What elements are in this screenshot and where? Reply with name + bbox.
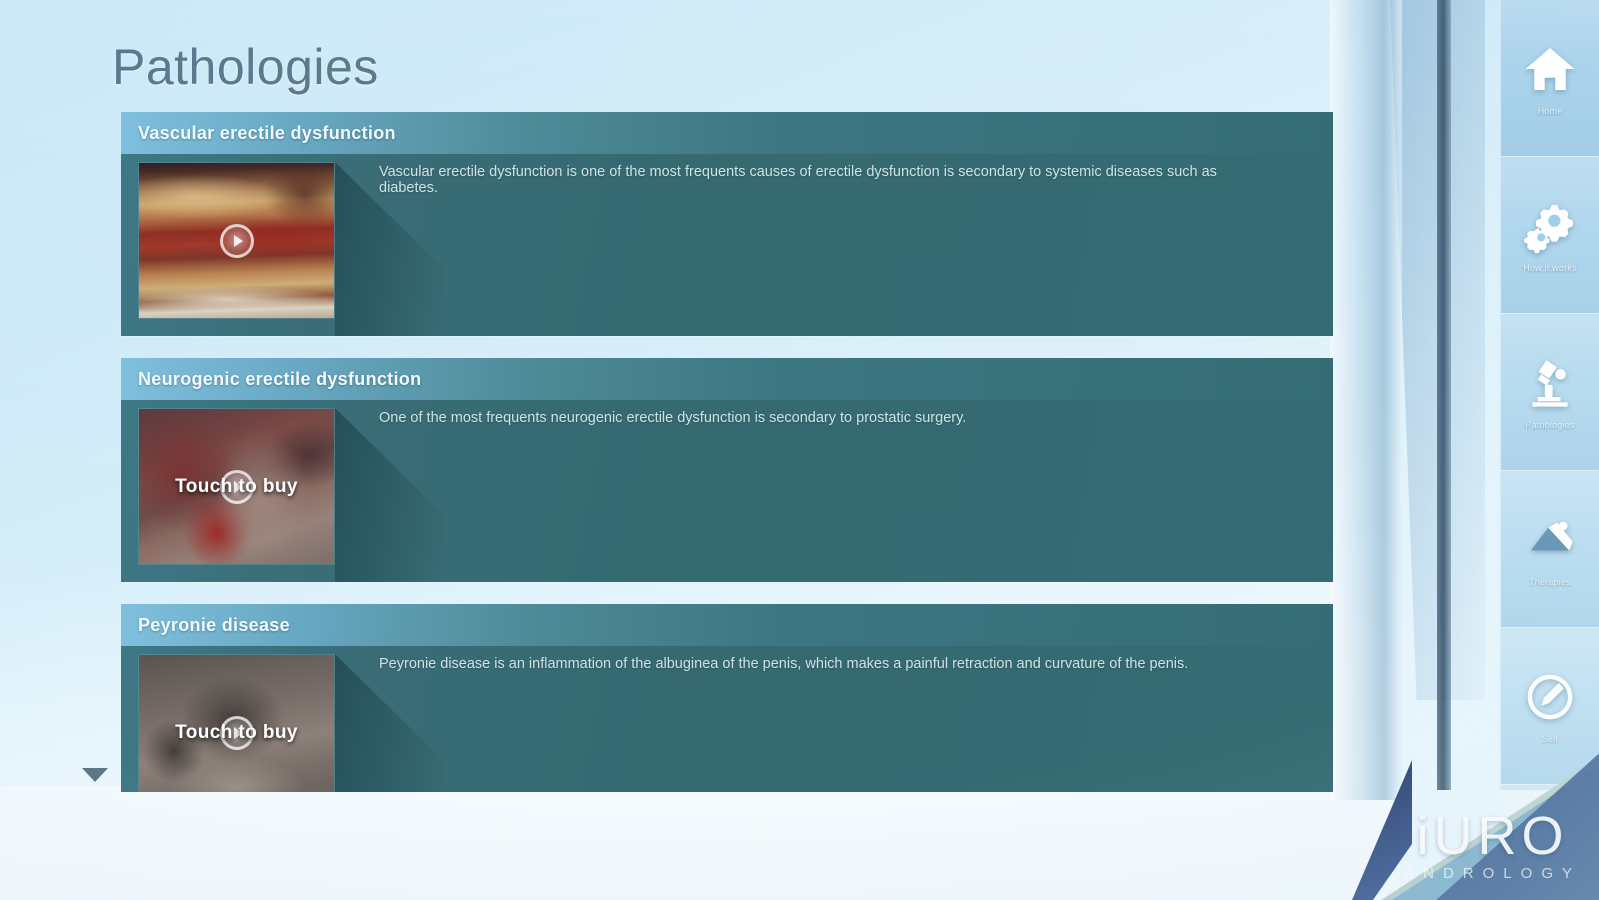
- panel-seam-edge: [1437, 0, 1451, 790]
- card-body: Vascular erectile dysfunction is one of …: [121, 154, 1333, 336]
- card-header: Peyronie disease: [121, 604, 1333, 646]
- card-description: One of the most frequents neurogenic ere…: [379, 410, 1259, 426]
- wrench-icon: [1521, 825, 1579, 883]
- microscope-icon: [1521, 354, 1579, 412]
- card-body: Touch to buy Peyronie disease is an infl…: [121, 646, 1333, 792]
- card-title: Neurogenic erectile dysfunction: [138, 369, 421, 390]
- touch-to-buy-label[interactable]: Touch to buy: [139, 476, 334, 498]
- sidebar-item-self[interactable]: Self: [1501, 628, 1599, 785]
- page-title: Pathologies: [112, 38, 379, 96]
- gears-icon: [1521, 197, 1579, 255]
- pathology-card[interactable]: Neurogenic erectile dysfunction Touch to…: [121, 358, 1333, 582]
- thumbnail-image: Touch to buy: [138, 654, 335, 792]
- thumbnail-shadow: [335, 654, 445, 792]
- pathology-card[interactable]: Peyronie disease Touch to buy Peyronie d…: [121, 604, 1333, 792]
- chevron-down-icon[interactable]: [82, 765, 108, 785]
- sidebar-item-label: Therapies: [1529, 577, 1571, 587]
- thumbnail-image: Touch to buy: [138, 408, 335, 565]
- card-thumbnail[interactable]: Touch to buy: [138, 408, 335, 565]
- thumbnail-shadow: [335, 408, 445, 582]
- card-description: Vascular erectile dysfunction is one of …: [379, 164, 1259, 196]
- sidebar-item-therapies[interactable]: Therapies: [1501, 471, 1599, 628]
- card-title: Peyronie disease: [138, 615, 290, 636]
- sidebar-item-label: Home: [1538, 106, 1563, 116]
- sidebar-item-label: Settings: [1533, 891, 1567, 900]
- pencil-icon: [1521, 668, 1579, 726]
- card-thumbnail[interactable]: Touch to buy: [138, 654, 335, 792]
- card-header: Vascular erectile dysfunction: [121, 112, 1333, 154]
- content-panel-fade: [0, 786, 1400, 900]
- card-header: Neurogenic erectile dysfunction: [121, 358, 1333, 400]
- sidebar-item-home[interactable]: Home: [1501, 0, 1599, 157]
- panel-seam: [1330, 0, 1402, 800]
- touch-to-buy-label[interactable]: Touch to buy: [139, 722, 334, 744]
- card-description: Peyronie disease is an inflammation of t…: [379, 656, 1259, 672]
- home-icon: [1521, 40, 1579, 98]
- sidebar-item-label: How it works: [1523, 263, 1576, 273]
- pathology-list[interactable]: Vascular erectile dysfunction Vascular e…: [121, 112, 1333, 792]
- sidebar-item-pathologies[interactable]: Pathologies: [1501, 314, 1599, 471]
- play-circle-icon[interactable]: [220, 224, 254, 258]
- sidebar-item-label: Pathologies: [1525, 420, 1574, 430]
- app-root: Pathologies Vascular erectile dysfunctio…: [0, 0, 1599, 900]
- sidebar-item-label: Self: [1542, 734, 1558, 744]
- therapies-icon: [1521, 511, 1579, 569]
- sidebar-item-how-it-works[interactable]: How it works: [1501, 157, 1599, 314]
- pathology-card[interactable]: Vascular erectile dysfunction Vascular e…: [121, 112, 1333, 336]
- card-title: Vascular erectile dysfunction: [138, 123, 396, 144]
- thumbnail-image: [138, 162, 335, 319]
- card-body: Touch to buy One of the most frequents n…: [121, 400, 1333, 582]
- sidebar-nav: Home How it works: [1499, 0, 1599, 790]
- card-thumbnail[interactable]: [138, 162, 335, 319]
- sidebar-item-settings[interactable]: Settings: [1501, 785, 1599, 900]
